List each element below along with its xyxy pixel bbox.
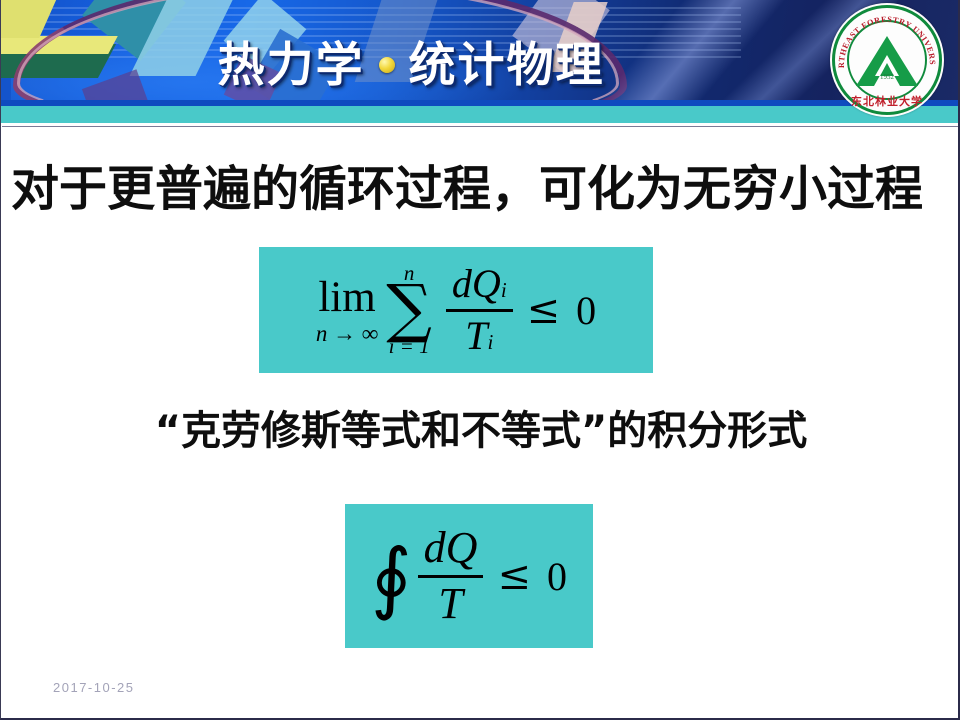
formula-1-right-side: 0 [576, 287, 596, 334]
fraction-dq-over-t: dQi Ti [446, 262, 513, 358]
summation-lower-limit: i = 1 [389, 336, 430, 357]
fraction-denominator: T [432, 580, 468, 629]
contour-integral-icon: ∮ [371, 547, 412, 609]
limit-subscript: n → ∞ [316, 322, 378, 345]
numerator-index: i [501, 278, 507, 302]
formula-2-right-side: 0 [547, 553, 567, 600]
fraction-numerator: dQ [418, 524, 484, 573]
header-title-part-2: 统计物理 [409, 38, 605, 93]
limit-main-label: lim [318, 276, 375, 319]
university-logo: NORTHEAST FORESTRY UNIVERSITY 1952 东北林业大… [830, 3, 944, 117]
formula-1-expression: lim n → ∞ n ∑ i = 1 dQi Ti ≤ 0 [316, 262, 596, 358]
formula-2-expression: ∮ dQ T ≤ 0 [371, 524, 567, 628]
slide-subheading: “克劳修斯等式和不等式”的积分形式 [1, 405, 960, 457]
slide-header-title: 热力学统计物理 [1, 26, 821, 95]
fraction-bar [418, 575, 484, 578]
presentation-slide: 热力学统计物理 NORTHEAST FORESTRY UNIVERSITY 19… [0, 0, 960, 720]
numerator-text: dQ [452, 261, 501, 306]
slide-heading: 对于更普遍的循环过程，可化为无穷小过程 [11, 160, 951, 218]
denominator-index: i [487, 330, 493, 354]
relation-less-equal-icon: ≤ [527, 287, 561, 333]
formula-box-limit-sum: lim n → ∞ n ∑ i = 1 dQi Ti ≤ 0 [259, 247, 653, 373]
relation-less-equal-icon: ≤ [497, 553, 531, 599]
summation-sigma-icon: ∑ [386, 282, 432, 336]
header-teal-bar [1, 106, 960, 123]
denominator-text: T [465, 313, 487, 358]
header-title-part-1: 热力学 [218, 38, 365, 93]
slide-date-stamp: 2017-10-25 [53, 680, 135, 695]
summation-operator: n ∑ i = 1 [386, 263, 432, 356]
fraction-numerator: dQi [446, 262, 513, 306]
logo-founding-year: 1952 [830, 73, 944, 81]
body-top-divider [2, 126, 959, 127]
fraction-denominator: Ti [459, 314, 499, 358]
fraction-bar [446, 309, 513, 312]
gold-dot-bullet-icon [379, 57, 395, 73]
slide-header-banner: 热力学统计物理 [1, 0, 960, 106]
fraction-dq-over-t-simple: dQ T [418, 524, 484, 628]
logo-chinese-name: 东北林业大学 [830, 93, 944, 109]
limit-operator: lim n → ∞ [316, 276, 378, 345]
formula-box-cyclic-integral: ∮ dQ T ≤ 0 [345, 504, 593, 648]
